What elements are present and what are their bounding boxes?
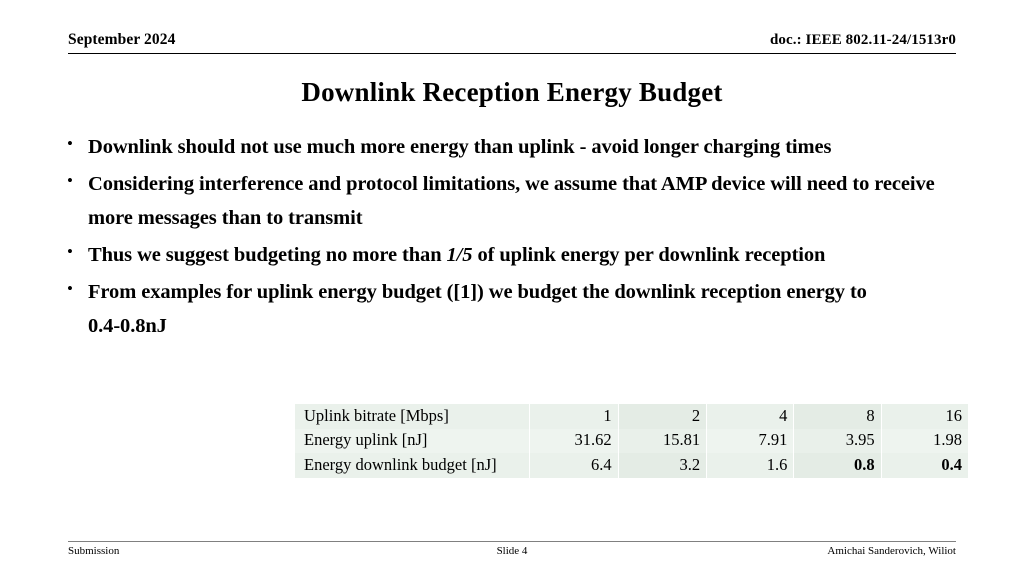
- footer-slide-number: Slide 4: [68, 545, 956, 557]
- list-item: • Thus we suggest budgeting no more than…: [62, 238, 962, 272]
- page-title: Downlink Reception Energy Budget: [0, 77, 1024, 108]
- table-cell: 0.8: [794, 453, 881, 478]
- row-label: Energy uplink [nJ]: [295, 429, 530, 454]
- row-label: Uplink bitrate [Mbps]: [295, 404, 530, 429]
- energy-budget-table: Uplink bitrate [Mbps] 1 2 4 8 16 Energy …: [295, 404, 968, 478]
- table-cell: 16: [881, 404, 968, 429]
- table-cell: 2: [618, 404, 706, 429]
- list-item: • From examples for uplink energy budget…: [62, 275, 962, 343]
- table-row: Uplink bitrate [Mbps] 1 2 4 8 16: [295, 404, 968, 429]
- table-row: Energy uplink [nJ] 31.62 15.81 7.91 3.95…: [295, 429, 968, 454]
- slide-header: September 2024 doc.: IEEE 802.11-24/1513…: [68, 31, 956, 55]
- list-item-extra-line: 0.4-0.8nJ: [88, 309, 962, 343]
- bullet-list: • Downlink should not use much more ener…: [62, 130, 962, 346]
- table-cell: 1: [530, 404, 618, 429]
- table-cell: 7.91: [707, 429, 794, 454]
- table-row: Energy downlink budget [nJ] 6.4 3.2 1.6 …: [295, 453, 968, 478]
- header-doc-id: doc.: IEEE 802.11-24/1513r0: [770, 32, 956, 49]
- table-cell: 15.81: [618, 429, 706, 454]
- list-item-emphasis: 1/5: [447, 244, 473, 266]
- row-label: Energy downlink budget [nJ]: [295, 453, 530, 478]
- list-item-text: From examples for uplink energy budget (…: [88, 281, 867, 303]
- bullet-icon: •: [67, 130, 73, 158]
- bullet-icon: •: [67, 238, 73, 266]
- table-cell: 3.95: [794, 429, 881, 454]
- header-date: September 2024: [68, 31, 175, 49]
- list-item-text-before: Thus we suggest budgeting no more than: [88, 244, 447, 266]
- table-cell: 31.62: [530, 429, 618, 454]
- table-cell: 1.6: [707, 453, 794, 478]
- list-item-text: Considering interference and protocol li…: [88, 173, 935, 229]
- list-item-text-after: of uplink energy per downlink reception: [472, 244, 825, 266]
- table-cell: 8: [794, 404, 881, 429]
- bullet-icon: •: [67, 275, 73, 303]
- table-cell: 3.2: [618, 453, 706, 478]
- table-cell: 0.4: [881, 453, 968, 478]
- bullet-icon: •: [67, 167, 73, 195]
- list-item: • Considering interference and protocol …: [62, 167, 962, 235]
- list-item-text: Downlink should not use much more energy…: [88, 136, 831, 158]
- table-cell: 1.98: [881, 429, 968, 454]
- table-cell: 4: [707, 404, 794, 429]
- footer-divider: [68, 541, 956, 542]
- table-cell: 6.4: [530, 453, 618, 478]
- footer-author: Amichai Sanderovich, Wiliot: [827, 545, 956, 557]
- header-divider: [68, 53, 956, 54]
- slide-footer: Submission Slide 4 Amichai Sanderovich, …: [68, 545, 956, 561]
- list-item: • Downlink should not use much more ener…: [62, 130, 962, 164]
